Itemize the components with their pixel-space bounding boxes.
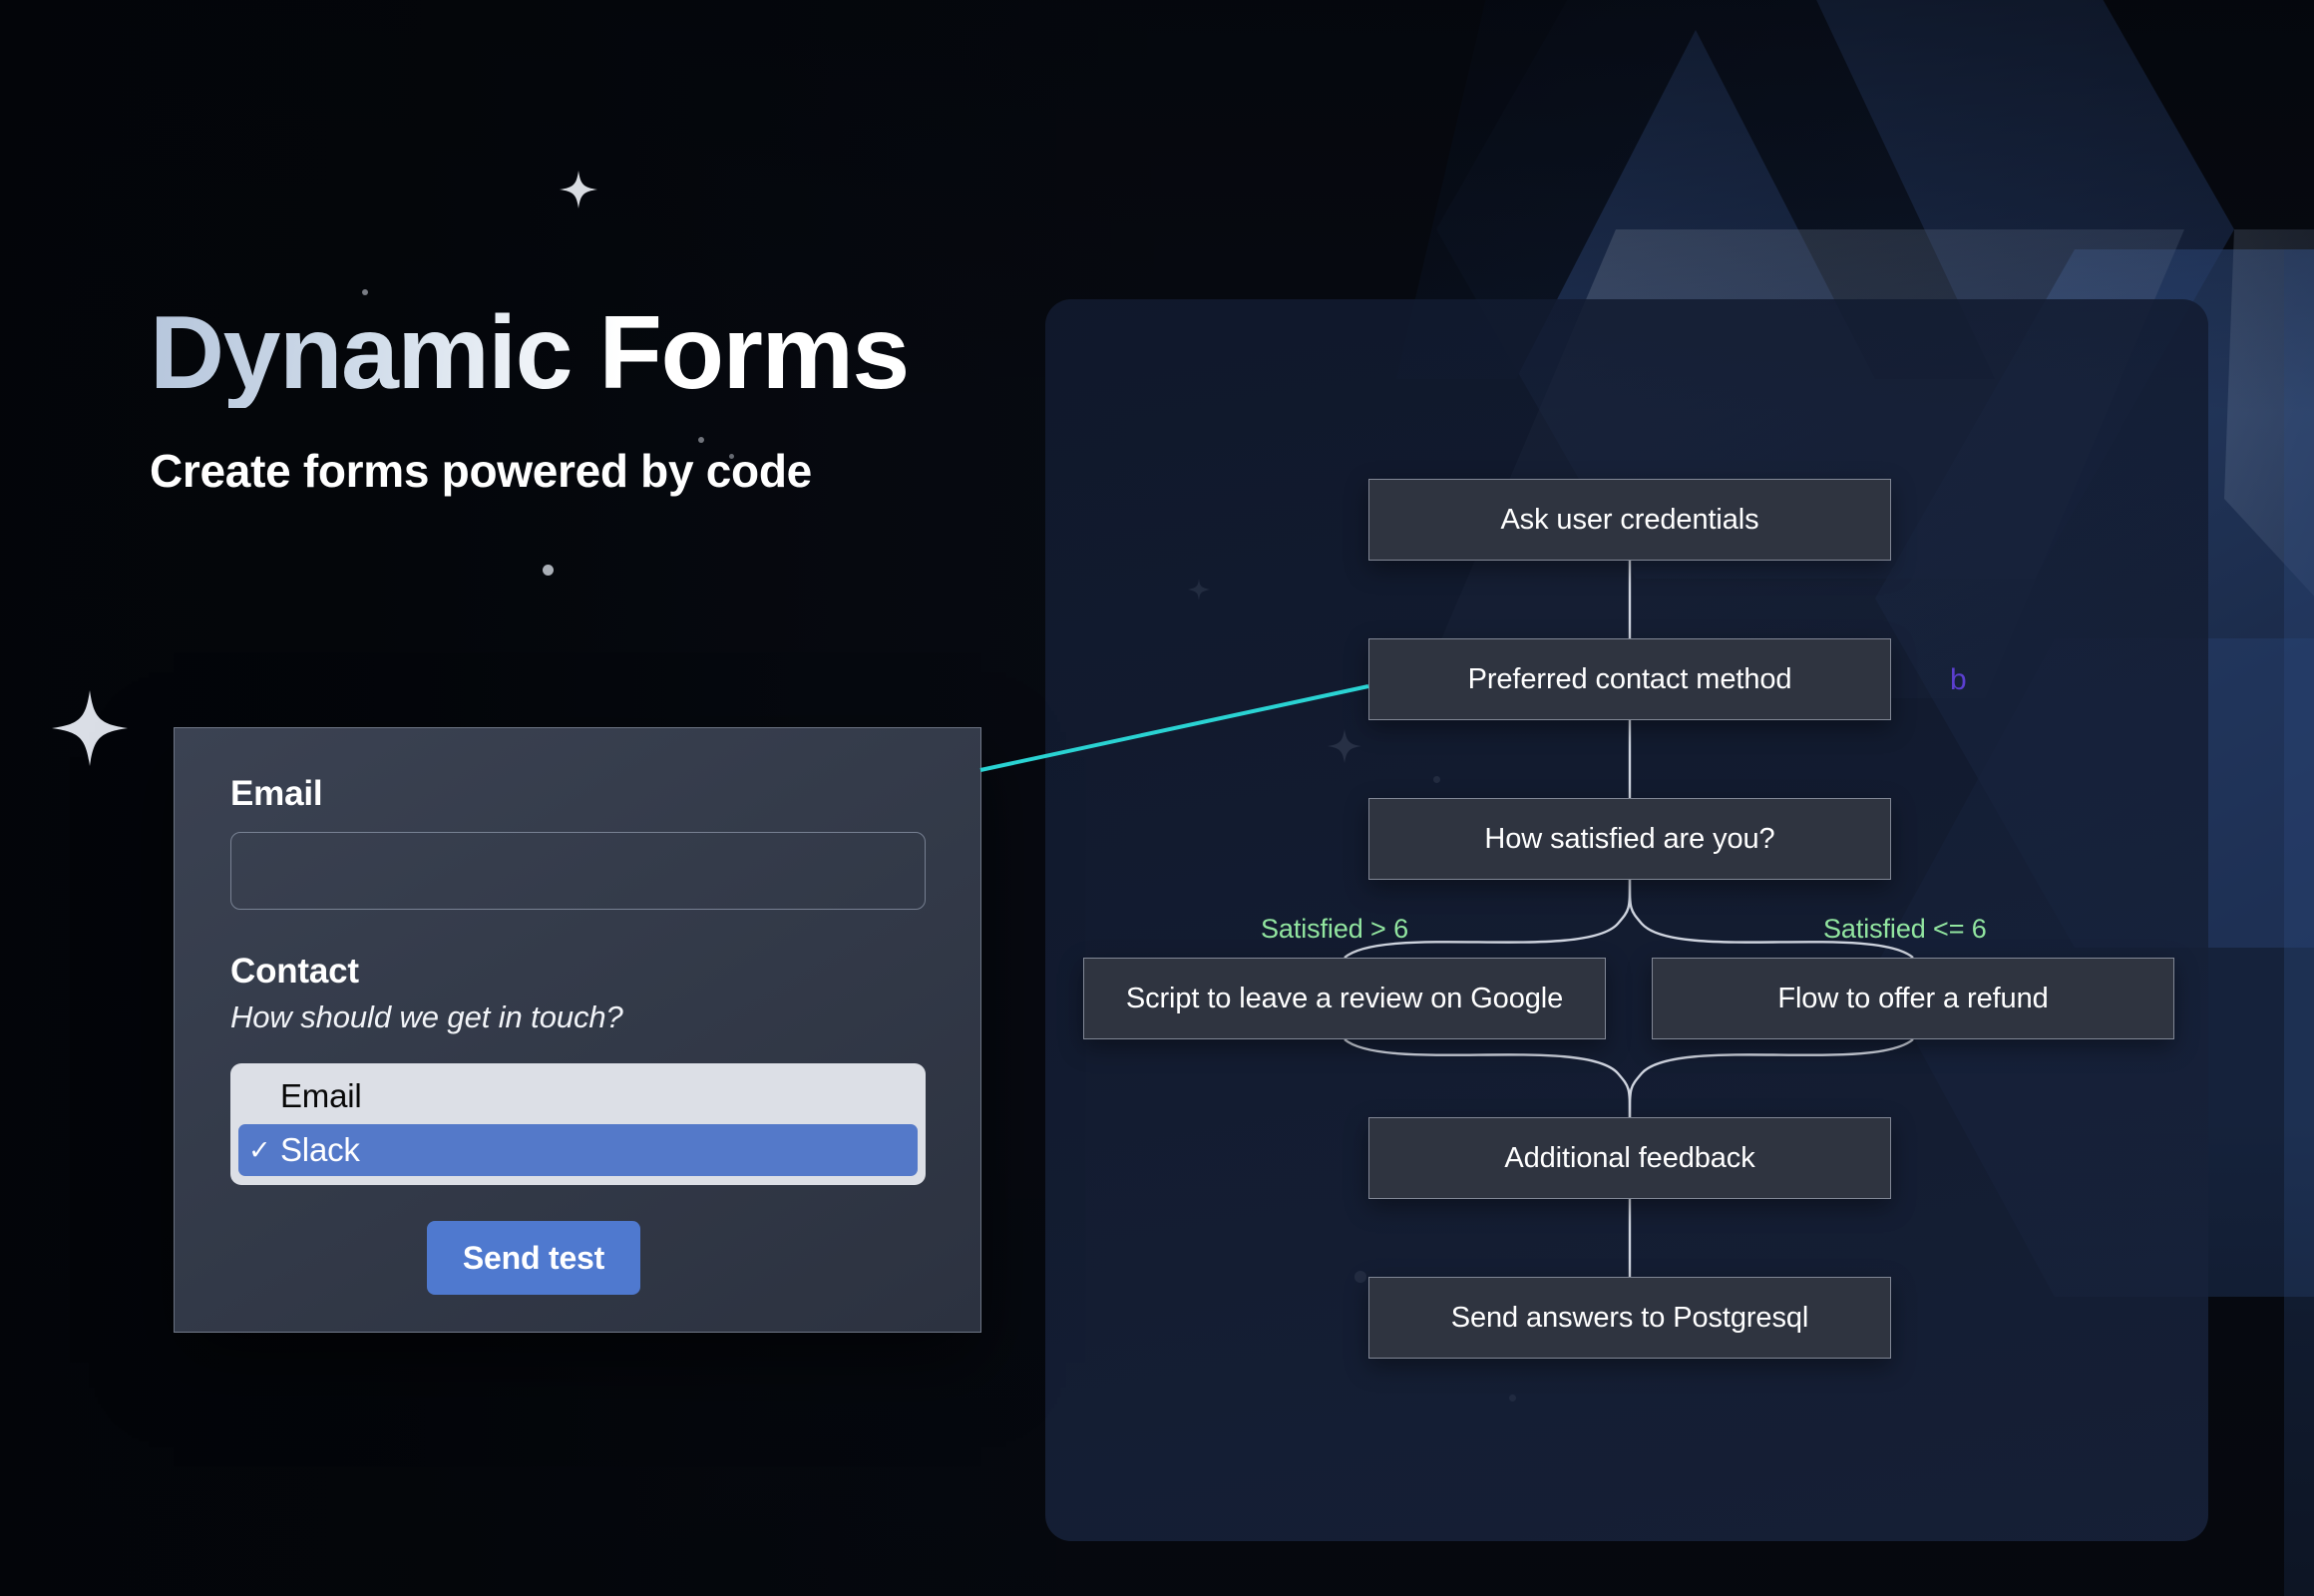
checkmark-icon: ✓: [248, 1135, 274, 1166]
flow-node-script-review-google[interactable]: Script to leave a review on Google: [1083, 958, 1606, 1039]
edge-label-satisfied-lte-6: Satisfied <= 6: [1823, 914, 1987, 945]
dot-decoration: [543, 565, 554, 576]
flow-node-label: Flow to offer a refund: [1777, 983, 2048, 1015]
page-title: Dynamic Forms: [150, 299, 909, 408]
flow-node-offer-refund[interactable]: Flow to offer a refund: [1652, 958, 2174, 1039]
flow-node-label: Send answers to Postgresql: [1451, 1302, 1808, 1335]
flow-node-label: Additional feedback: [1504, 1142, 1754, 1175]
send-test-button[interactable]: Send test: [427, 1221, 640, 1295]
form-preview-card: Email Contact How should we get in touch…: [174, 727, 981, 1333]
stray-glyph-b: b: [1950, 663, 1967, 697]
flow-node-how-satisfied[interactable]: How satisfied are you?: [1368, 798, 1891, 880]
contact-field-group: Contact How should we get in touch? Emai…: [230, 952, 925, 1185]
listbox-option-slack[interactable]: ✓ Slack: [238, 1124, 918, 1176]
email-field-label: Email: [230, 774, 925, 814]
listbox-option-label: Email: [280, 1077, 362, 1115]
flow-node-send-answers-postgresql[interactable]: Send answers to Postgresql: [1368, 1277, 1891, 1359]
flow-node-ask-user-credentials[interactable]: Ask user credentials: [1368, 479, 1891, 561]
edge-label-satisfied-gt-6: Satisfied > 6: [1261, 914, 1408, 945]
flow-node-preferred-contact-method[interactable]: Preferred contact method: [1368, 638, 1891, 720]
flow-node-additional-feedback[interactable]: Additional feedback: [1368, 1117, 1891, 1199]
flow-node-label: Ask user credentials: [1500, 504, 1758, 537]
hero-section: Dynamic Forms Create forms powered by co…: [150, 299, 909, 498]
page-subtitle: Create forms powered by code: [150, 444, 909, 498]
listbox-option-email[interactable]: Email: [238, 1070, 918, 1122]
contact-field-description: How should we get in touch?: [230, 999, 925, 1035]
flow-node-label: How satisfied are you?: [1484, 823, 1774, 856]
email-input[interactable]: [230, 832, 926, 910]
contact-method-listbox[interactable]: Email ✓ Slack: [230, 1063, 926, 1185]
flow-node-label: Preferred contact method: [1468, 663, 1792, 696]
listbox-option-label: Slack: [280, 1131, 360, 1169]
flow-node-label: Script to leave a review on Google: [1126, 983, 1563, 1015]
contact-field-label: Contact: [230, 952, 925, 992]
